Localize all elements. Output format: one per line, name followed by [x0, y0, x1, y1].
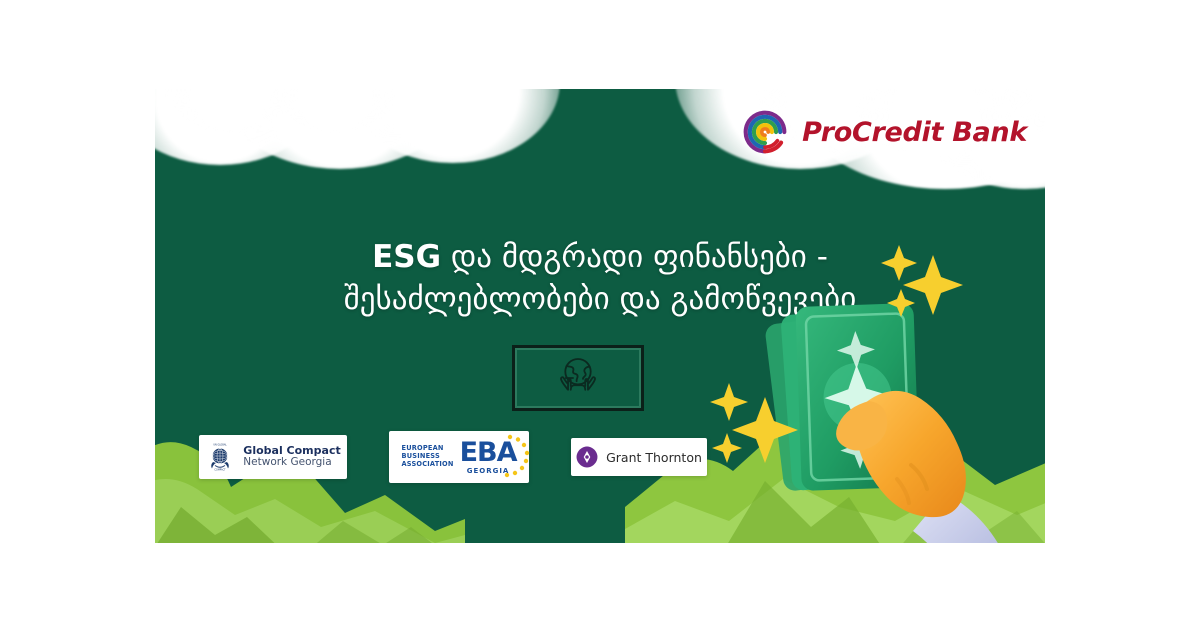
procredit-bank-logo: ProCredit Bank: [742, 109, 1027, 155]
badge-global-compact-text: Global Compact Network Georgia: [243, 445, 340, 469]
sparkle-cluster-icon: [875, 237, 967, 323]
headline-line-1-rest: და მდგრადი ფინანსები -: [441, 239, 828, 275]
partner-badges: UN GLOBAL COMPACT Global Compact Network…: [199, 431, 707, 483]
badge-grant-thornton-name: Grant Thornton: [606, 450, 702, 465]
event-banner: ProCredit Bank ESG და მდგრადი ფინანსები …: [155, 89, 1045, 543]
badge-eba-mark: EBA: [460, 439, 517, 466]
grant-thornton-mark-icon: [576, 446, 598, 468]
procredit-rainbow-swirl-icon: [742, 109, 788, 155]
brand-name: ProCredit Bank: [802, 117, 1027, 148]
badge-eba-georgia[interactable]: EUROPEAN BUSINESS ASSOCIATION: [389, 431, 529, 483]
badge-global-compact[interactable]: UN GLOBAL COMPACT Global Compact Network…: [199, 435, 347, 479]
badge-eba-markgroup: EBA GEORGIA: [460, 439, 517, 475]
svg-text:UN GLOBAL: UN GLOBAL: [214, 444, 228, 447]
badge-grant-thornton[interactable]: Grant Thornton: [571, 438, 707, 476]
page-root: ProCredit Bank ESG და მდგრადი ფინანსები …: [0, 0, 1200, 628]
badge-eba-country: GEORGIA: [467, 467, 510, 475]
badge-eba-line3: ASSOCIATION: [402, 461, 454, 469]
hands-holding-globe-icon: [549, 349, 607, 407]
badge-global-compact-line2: Network Georgia: [243, 457, 340, 469]
headline-highlight: ESG: [372, 239, 441, 275]
sparkle-cluster-icon: [703, 377, 805, 471]
un-globe-laurel-emblem-icon: UN GLOBAL COMPACT: [205, 442, 235, 472]
svg-text:COMPACT: COMPACT: [215, 469, 227, 472]
badge-eba-fulltext: EUROPEAN BUSINESS ASSOCIATION: [402, 445, 454, 468]
